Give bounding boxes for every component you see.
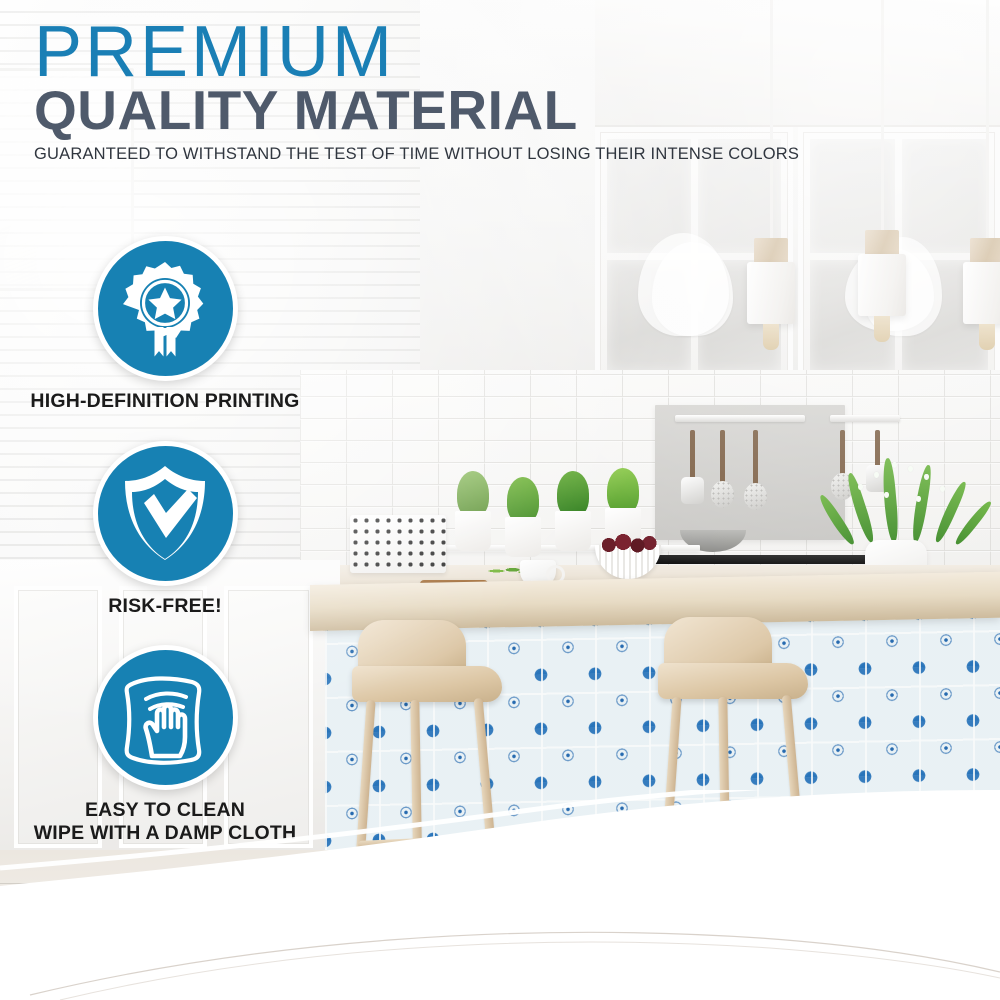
feature-item-risk-free: RISK-FREE! <box>0 441 330 618</box>
skimmer <box>720 430 725 486</box>
feature-badge-circle <box>93 236 238 381</box>
pendant-lamp <box>881 0 884 247</box>
lamp-shade <box>963 262 1000 324</box>
herb-pot <box>555 475 591 551</box>
headline-block: PREMIUM QUALITY MATERIAL GUARANTEED TO W… <box>34 18 799 164</box>
flower-bell <box>874 472 879 478</box>
poster-canvas: PREMIUM QUALITY MATERIAL GUARANTEED TO W… <box>0 0 1000 1000</box>
bottom-wave-decoration <box>0 790 1000 1000</box>
flower-bell <box>924 474 929 480</box>
lamp-bulb <box>874 316 890 342</box>
leaf <box>881 458 900 543</box>
wave-fill <box>0 790 1000 1000</box>
strainer <box>753 430 758 488</box>
flower-bell <box>884 492 889 498</box>
utensil-rail <box>675 415 805 422</box>
feature-list: HIGH-DEFINITION PRINTING RISK-FREE! <box>0 236 330 872</box>
glass-pane <box>902 139 988 252</box>
herb-pot <box>455 475 491 551</box>
utensil-rail <box>830 415 900 422</box>
cooktop <box>630 555 870 564</box>
pot <box>505 517 541 557</box>
dish <box>638 233 729 336</box>
herb-pot <box>505 485 541 557</box>
feature-label: HIGH-DEFINITION PRINTING <box>0 390 330 413</box>
stool-seat <box>352 666 502 702</box>
shield-check-icon <box>119 464 211 562</box>
pendant-lamp <box>986 0 989 255</box>
feature-badge-circle <box>93 645 238 790</box>
hand-wipe-cloth-icon <box>116 670 214 766</box>
leaf <box>953 499 993 547</box>
pot <box>555 511 591 551</box>
cherries <box>598 533 658 553</box>
page-title-main: QUALITY MATERIAL <box>34 83 799 138</box>
lamp-shade <box>858 254 906 316</box>
skimmer-head <box>711 481 734 508</box>
patterned-napkins <box>350 515 446 573</box>
flower-arrangement <box>840 450 990 546</box>
spatula-head <box>681 477 704 504</box>
flower-bell <box>908 466 913 472</box>
lamp-bulb <box>763 324 779 350</box>
flower-bell <box>858 484 863 490</box>
page-subtitle: GUARANTEED TO WITHSTAND THE TEST OF TIME… <box>34 145 799 164</box>
lamp-bulb <box>979 324 995 350</box>
flower-bell <box>916 496 921 502</box>
stool-seat <box>658 663 808 699</box>
range-hood-panel <box>655 405 845 540</box>
feature-badge-circle <box>93 441 238 586</box>
spatula <box>690 430 695 482</box>
lamp-shade <box>747 262 795 324</box>
strainer-head <box>744 483 767 510</box>
pot <box>455 511 491 551</box>
leaf <box>910 464 933 543</box>
flower-bell <box>940 486 945 492</box>
page-title-premium: PREMIUM <box>34 18 799 87</box>
flower-bell <box>892 462 897 468</box>
feature-item-hd-printing: HIGH-DEFINITION PRINTING <box>0 236 330 413</box>
award-ribbon-icon <box>121 260 209 358</box>
feature-label: RISK-FREE! <box>0 595 330 618</box>
